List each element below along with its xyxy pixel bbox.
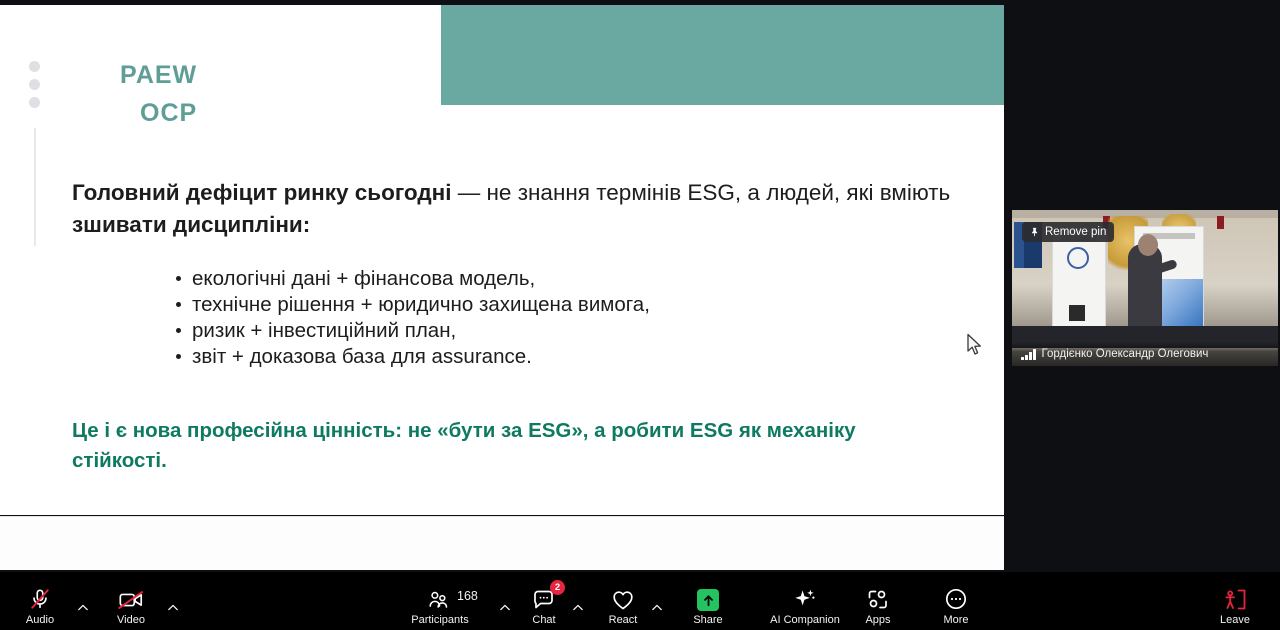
chat-bubble-icon: 2 (532, 585, 556, 611)
slide-dot-decoration (29, 61, 40, 115)
decor-dot-2 (29, 79, 40, 90)
lead-bold-2: зшивати дисципліни: (72, 212, 310, 237)
slide-bullet-list: екологічні дані + фінансова модель, техн… (176, 266, 966, 370)
list-item: технічне рішення + юридично захищена вим… (176, 292, 966, 318)
leave-door-icon (1222, 585, 1248, 611)
toolbar-ai-companion-button[interactable]: AI Companion (765, 585, 845, 626)
toolbar-share-button[interactable]: Share (676, 585, 740, 626)
poster-qr-code (1069, 305, 1085, 321)
toolbar-share-label: Share (693, 614, 722, 626)
toolbar-participants-button[interactable]: 168 Participants (408, 585, 472, 626)
toolbar-apps-label: Apps (865, 614, 890, 626)
toolbar-react-button[interactable]: React (591, 585, 655, 626)
poster-emblem (1067, 247, 1089, 269)
list-item: екологічні дані + фінансова модель, (176, 266, 966, 292)
bullet-dot-icon (176, 354, 181, 359)
bullet-text: екологічні дані + фінансова модель, (192, 266, 535, 292)
presentation-slide: PAEW OCP Головний дефіцит ринку сьогодні… (0, 5, 1004, 515)
shared-screen-stage: PAEW OCP Головний дефіцит ринку сьогодні… (0, 0, 1280, 572)
decor-dot-3 (29, 97, 40, 108)
meeting-toolbar: Audio Video (0, 572, 1280, 630)
video-participant-name-bar: Гордієнко Олександр Олегович (1012, 342, 1278, 366)
slide-logo: PAEW OCP (118, 57, 268, 132)
pin-icon (1030, 226, 1040, 238)
slide-vertical-rule (34, 128, 36, 246)
logo-line-1: PAEW (118, 57, 268, 95)
remove-pin-label: Remove pin (1045, 226, 1106, 238)
chevron-up-icon (652, 604, 662, 611)
video-options-caret[interactable] (166, 600, 180, 614)
list-item: ризик + інвестиційний план, (176, 318, 966, 344)
toolbar-more-label: More (943, 614, 968, 626)
toolbar-audio-label: Audio (26, 614, 54, 626)
slide-lead-paragraph: Головний дефіцит ринку сьогодні — не зна… (72, 177, 952, 241)
chevron-up-icon (168, 604, 178, 611)
pinned-participant-video[interactable]: Remove pin Гордієнко Олександр Олегович (1012, 210, 1278, 366)
slide-closing-statement: Це і є нова професійна цінність: не «бут… (72, 416, 952, 476)
heart-icon (611, 585, 635, 611)
toolbar-audio-button[interactable]: Audio (8, 585, 72, 626)
microphone-muted-icon (29, 585, 51, 611)
share-screen-icon (697, 585, 719, 611)
bullet-text: ризик + інвестиційний план, (192, 318, 456, 344)
toolbar-chat-button[interactable]: 2 Chat (512, 585, 576, 626)
video-lamp-2 (1217, 216, 1224, 229)
sparkle-icon (793, 585, 817, 611)
ellipsis-icon (944, 585, 968, 611)
participant-name: Гордієнко Олександр Олегович (1042, 348, 1209, 360)
signal-bars-icon (1021, 349, 1036, 360)
video-speaker-head (1138, 234, 1158, 256)
slide-footer-bar (0, 516, 1004, 570)
bullet-text: звіт + доказова база для assurance. (192, 344, 532, 370)
participants-options-caret[interactable] (498, 600, 512, 614)
mouse-pointer-icon (966, 333, 984, 357)
apps-icon (866, 585, 890, 611)
slide-banner (441, 5, 1004, 105)
remove-pin-button[interactable]: Remove pin (1022, 222, 1114, 242)
toolbar-leave-label: Leave (1220, 614, 1250, 626)
decor-dot-1 (29, 61, 40, 72)
toolbar-chat-label: Chat (532, 614, 555, 626)
lead-normal-1: — не знання термінів ESG, а людей, які в… (452, 180, 951, 205)
participants-icon: 168 (427, 585, 453, 611)
toolbar-video-label: Video (117, 614, 145, 626)
chevron-up-icon (500, 604, 510, 611)
video-poster-left (1052, 228, 1106, 336)
bullet-dot-icon (176, 302, 181, 307)
bullet-dot-icon (176, 276, 181, 281)
chevron-up-icon (78, 604, 88, 611)
chevron-up-icon (573, 604, 583, 611)
list-item: звіт + доказова база для assurance. (176, 344, 966, 370)
participants-count: 168 (457, 589, 478, 603)
toolbar-more-button[interactable]: More (924, 585, 988, 626)
zoom-meeting-window: PAEW OCP Головний дефіцит ринку сьогодні… (0, 0, 1280, 630)
toolbar-leave-button[interactable]: Leave (1203, 585, 1267, 626)
bullet-text: технічне рішення + юридично захищена вим… (192, 292, 650, 318)
logo-line-2: OCP (118, 95, 268, 133)
camera-muted-icon (118, 585, 144, 611)
toolbar-apps-button[interactable]: Apps (846, 585, 910, 626)
audio-options-caret[interactable] (76, 600, 90, 614)
toolbar-react-label: React (609, 614, 638, 626)
chat-options-caret[interactable] (571, 600, 585, 614)
lead-bold-1: Головний дефіцит ринку сьогодні (72, 180, 452, 205)
chat-unread-badge: 2 (550, 580, 565, 595)
react-options-caret[interactable] (650, 600, 664, 614)
bullet-dot-icon (176, 328, 181, 333)
toolbar-ai-companion-label: AI Companion (770, 614, 840, 626)
toolbar-video-button[interactable]: Video (99, 585, 163, 626)
toolbar-participants-label: Participants (411, 614, 468, 626)
